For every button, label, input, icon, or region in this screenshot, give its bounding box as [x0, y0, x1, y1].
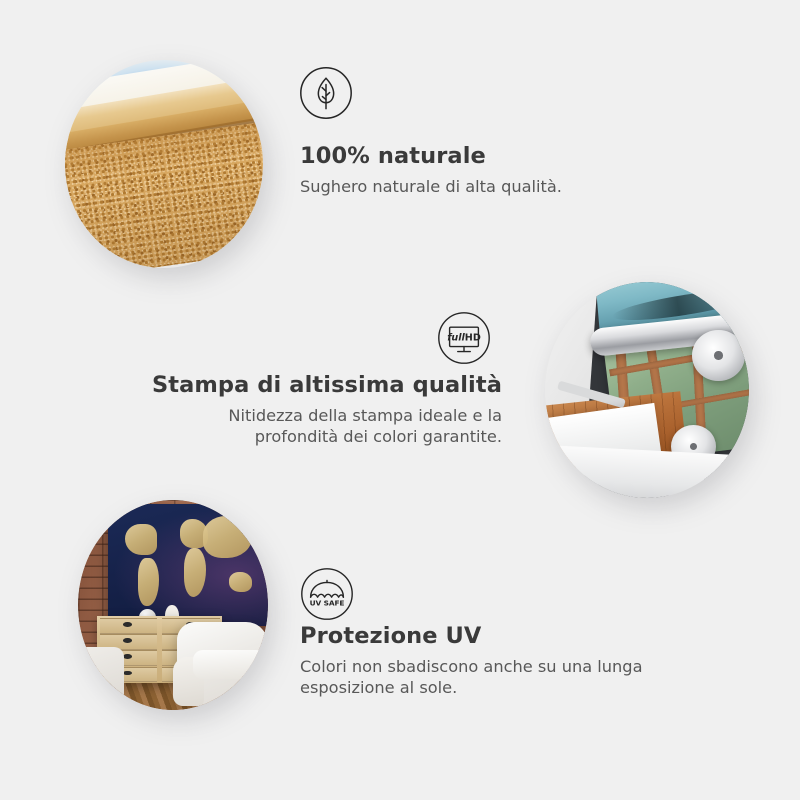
map-continent — [184, 548, 207, 597]
feature-description: Sughero naturale di alta qualità. — [300, 176, 720, 197]
feature-text-natural: 100% naturale Sughero naturale di alta q… — [300, 143, 720, 197]
map-continent — [125, 524, 158, 556]
white-armchair — [177, 622, 268, 706]
leaf-icon — [299, 66, 353, 120]
map-continent — [229, 572, 252, 591]
fullhd-monitor-icon: fullHD — [437, 311, 491, 365]
printer-wheel — [692, 330, 745, 382]
feature-description: Nitidezza della stampa ideale e la profo… — [150, 405, 502, 447]
svg-text:UV SAFE: UV SAFE — [310, 599, 345, 608]
feature-image-print-quality — [545, 282, 749, 498]
white-armchair-secondary — [78, 647, 124, 710]
feature-text-print-quality: Stampa di altissima qualità Nitidezza de… — [150, 372, 502, 447]
feature-description: Colori non sbadiscono anche su una lunga… — [300, 656, 700, 698]
feature-title: Stampa di altissima qualità — [150, 372, 502, 399]
uv-umbrella-icon: UV SAFE — [300, 567, 354, 621]
feature-title: 100% naturale — [300, 143, 720, 170]
world-map-mural — [108, 504, 268, 626]
svg-text:fullHD: fullHD — [447, 332, 481, 343]
feature-image-uv-protection — [78, 500, 268, 710]
map-continent — [138, 558, 159, 607]
feature-text-uv-protection: Protezione UV Colori non sbadiscono anch… — [300, 623, 700, 698]
printer-tray-front — [552, 446, 730, 498]
feature-image-natural — [65, 60, 263, 268]
feature-panel: 100% naturale Sughero naturale di alta q… — [0, 0, 800, 800]
feature-title: Protezione UV — [300, 623, 700, 650]
map-continent — [203, 516, 252, 557]
